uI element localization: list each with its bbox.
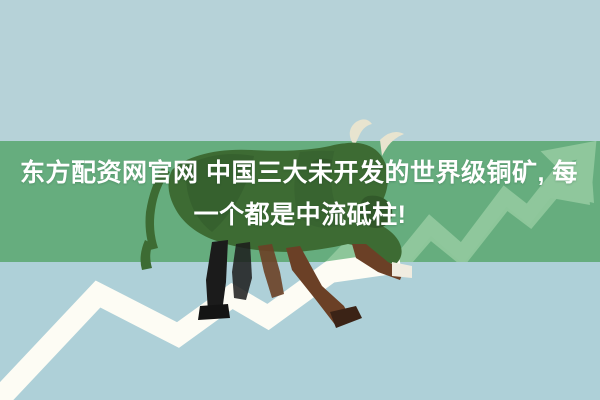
headline-line-1: 东方配资网官网 中国三大未开发的世界级铜矿, 每 bbox=[8, 152, 592, 194]
headline-line-2: 一个都是中流砥柱! bbox=[8, 194, 592, 236]
banner-image: 东方配资网官网 中国三大未开发的世界级铜矿, 每 一个都是中流砥柱! bbox=[0, 0, 600, 400]
page-title: 东方配资网官网 中国三大未开发的世界级铜矿, 每 一个都是中流砥柱! bbox=[0, 152, 600, 236]
